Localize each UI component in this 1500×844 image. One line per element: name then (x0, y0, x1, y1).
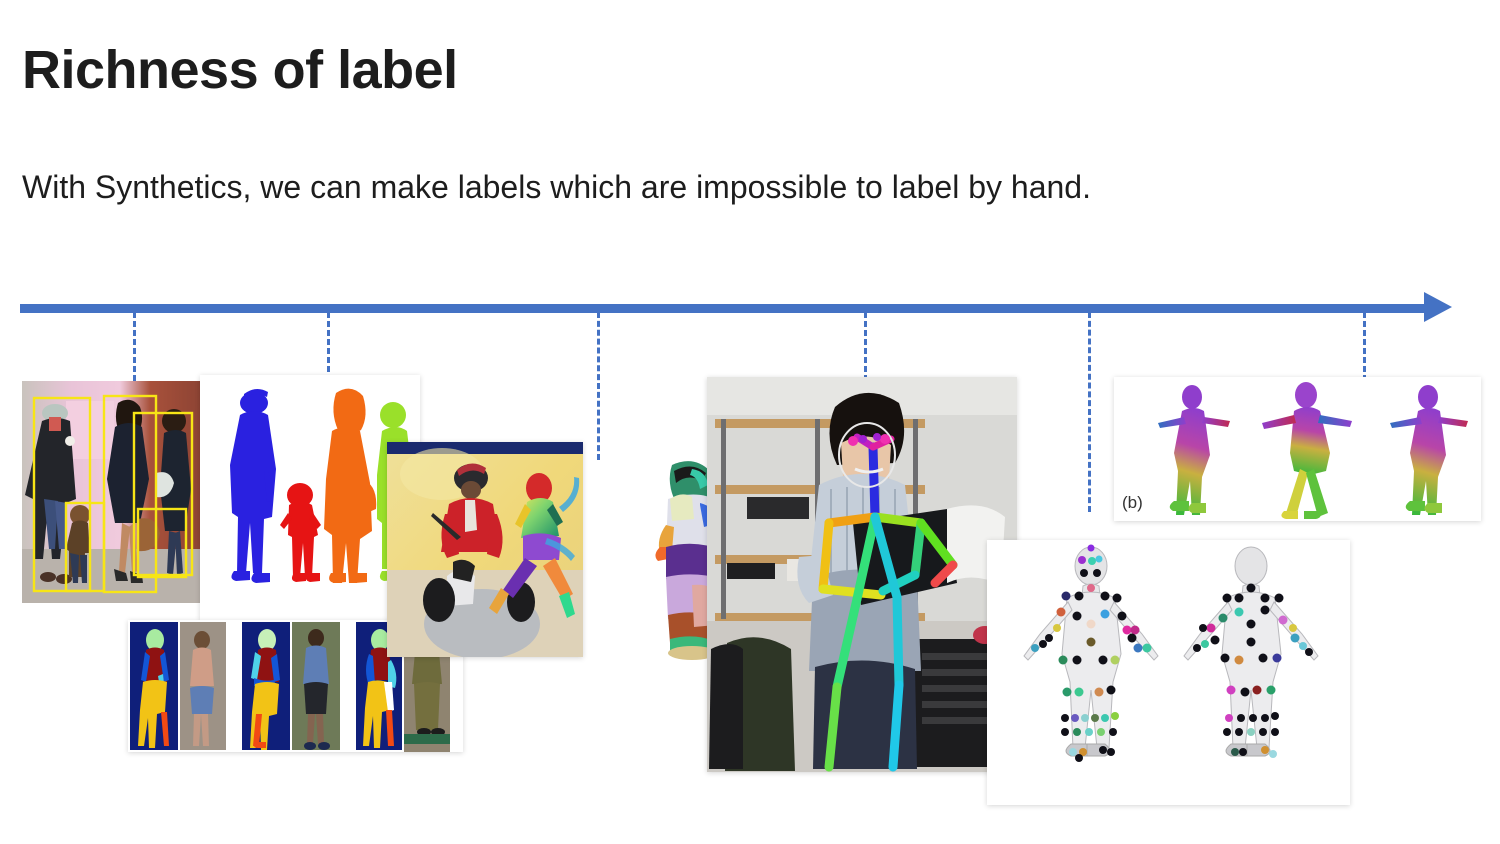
page-subtitle: With Synthetics, we can make labels whic… (22, 168, 1091, 206)
richness-progression-arrow (0, 296, 1500, 336)
arrow-head-icon (1424, 292, 1452, 322)
arrow-shaft (20, 304, 1430, 313)
axis-tick-1 (133, 312, 136, 390)
axis-tick-5 (1088, 312, 1091, 512)
uv-meshes-image (1114, 377, 1481, 521)
figure-skeleton-keypoints (707, 377, 1017, 772)
skeleton-keypoints-image (707, 377, 1017, 772)
densepose-equestrian-image (387, 442, 583, 657)
figure-uv-meshes: (b) (1114, 377, 1481, 521)
figure-landmark-body-models (987, 540, 1350, 805)
bounding-boxes-image (22, 381, 200, 603)
axis-tick-3 (597, 312, 600, 460)
page-title: Richness of label (22, 42, 458, 99)
landmark-body-models-image (987, 540, 1350, 805)
uv-meshes-caption: (b) (1122, 493, 1143, 513)
figure-densepose-equestrian (387, 442, 583, 657)
figure-bounding-boxes (22, 381, 200, 603)
slide-canvas: Richness of label With Synthetics, we ca… (0, 0, 1500, 844)
